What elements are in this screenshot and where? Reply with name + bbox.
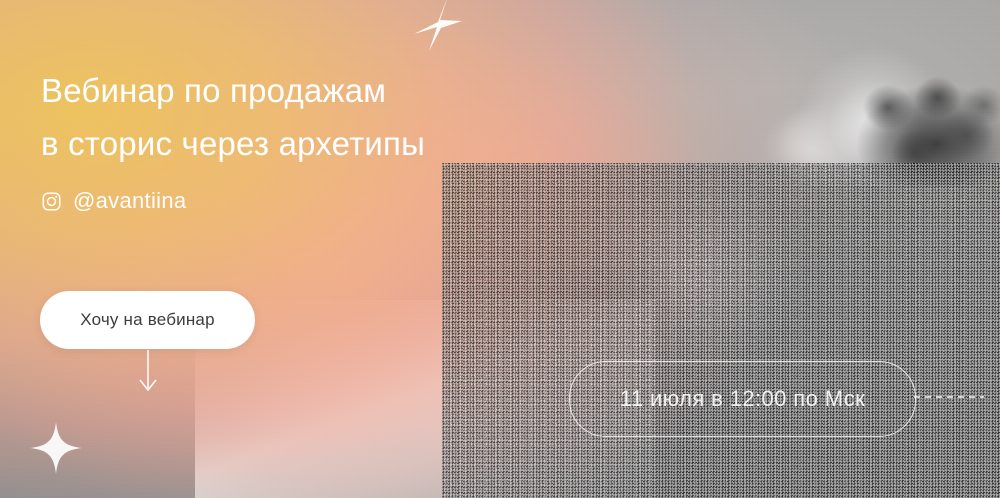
badge-dash-line [914,396,984,398]
date-badge-label: 11 июля в 12:00 по Мск [620,386,865,412]
social-handle-label: @avantiina [73,188,186,214]
cta-webinar-button[interactable]: Хочу на вебинар [40,291,255,349]
dither-pattern-light [442,163,1000,498]
date-badge: 11 июля в 12:00 по Мск [569,361,916,437]
headline-line-2: в сторис через архетипы [41,117,441,170]
dither-noise-artifact: 11 июля в 12:00 по Мск [442,163,1000,498]
page-title: Вебинар по продажам в сторис через архет… [41,64,441,170]
social-handle-row[interactable]: @avantiina [41,188,186,214]
arrow-down-icon [130,350,166,396]
instagram-icon [41,191,62,212]
headline-line-1: Вебинар по продажам [41,72,386,109]
cta-label: Хочу на вебинар [80,310,215,330]
promo-banner: Вебинар по продажам в сторис через архет… [0,0,1000,498]
banner-content: Вебинар по продажам в сторис через архет… [0,0,440,498]
